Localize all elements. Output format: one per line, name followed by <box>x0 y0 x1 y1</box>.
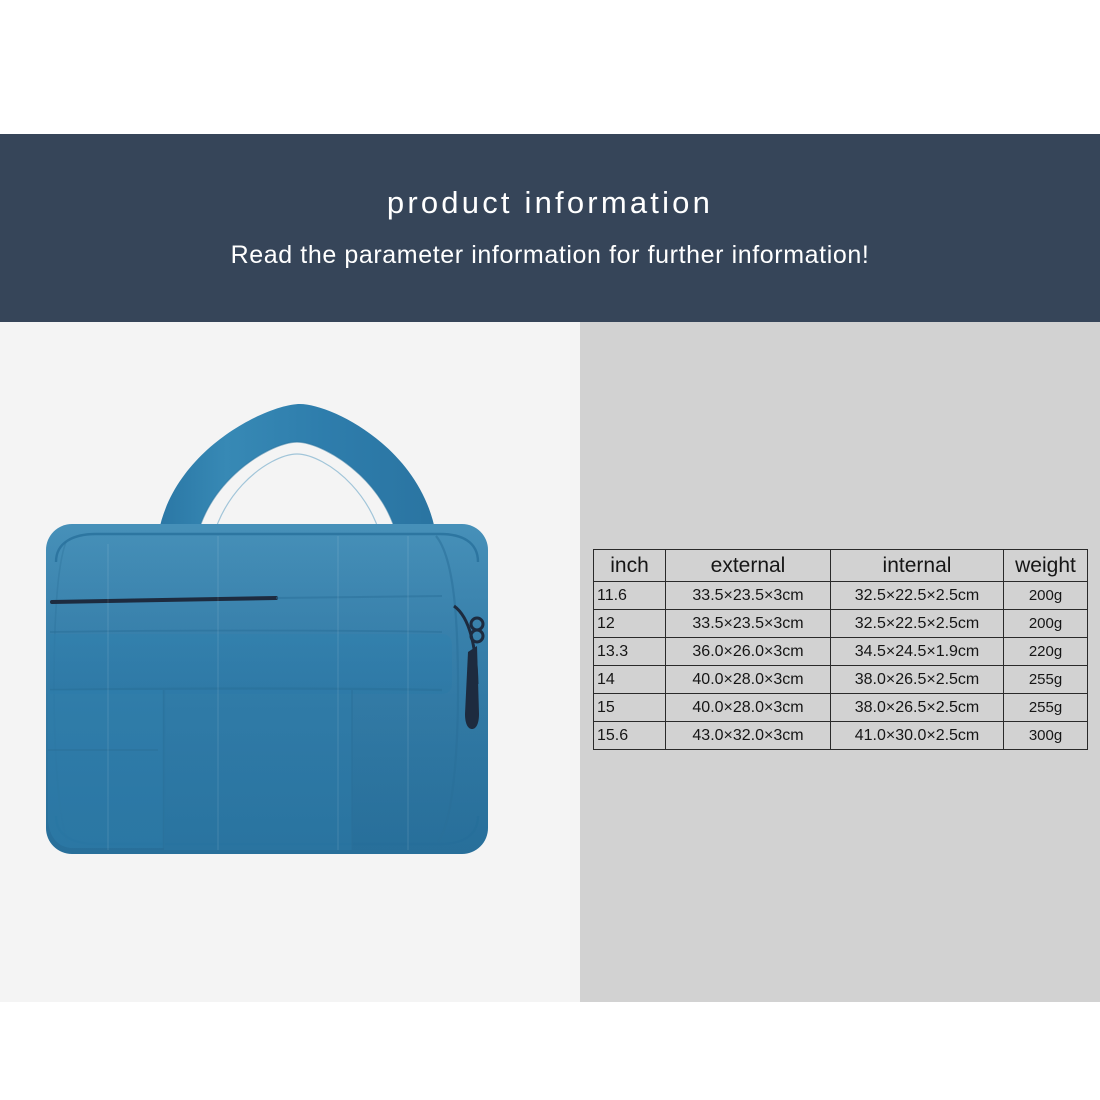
column-header-external: external <box>666 550 831 582</box>
table-row: 15 40.0×28.0×3cm 38.0×26.5×2.5cm 255g <box>594 694 1088 722</box>
cell-external: 43.0×32.0×3cm <box>666 722 831 750</box>
table-row: 15.6 43.0×32.0×3cm 41.0×30.0×2.5cm 300g <box>594 722 1088 750</box>
cell-external: 40.0×28.0×3cm <box>666 694 831 722</box>
product-image-panel <box>0 322 580 1002</box>
cell-internal: 32.5×22.5×2.5cm <box>831 582 1004 610</box>
table-row: 13.3 36.0×26.0×3cm 34.5×24.5×1.9cm 220g <box>594 638 1088 666</box>
table-body: 11.6 33.5×23.5×3cm 32.5×22.5×2.5cm 200g … <box>594 582 1088 750</box>
bag-front-pocket-icon <box>50 631 452 695</box>
cell-weight: 300g <box>1004 722 1088 750</box>
table-header-row: inch external internal weight <box>594 550 1088 582</box>
cell-inch: 15.6 <box>594 722 666 750</box>
page-subtitle: Read the parameter information for furth… <box>231 242 870 270</box>
banner: product information Read the parameter i… <box>0 134 1100 322</box>
table-row: 14 40.0×28.0×3cm 38.0×26.5×2.5cm 255g <box>594 666 1088 694</box>
cell-internal: 38.0×26.5×2.5cm <box>831 666 1004 694</box>
cell-inch: 13.3 <box>594 638 666 666</box>
cell-internal: 32.5×22.5×2.5cm <box>831 610 1004 638</box>
cell-weight: 220g <box>1004 638 1088 666</box>
table-header: inch external internal weight <box>594 550 1088 582</box>
cell-weight: 255g <box>1004 666 1088 694</box>
cell-weight: 200g <box>1004 610 1088 638</box>
cell-external: 40.0×28.0×3cm <box>666 666 831 694</box>
page-title: product information <box>387 186 713 220</box>
cell-internal: 34.5×24.5×1.9cm <box>831 638 1004 666</box>
table-row: 11.6 33.5×23.5×3cm 32.5×22.5×2.5cm 200g <box>594 582 1088 610</box>
cell-external: 36.0×26.0×3cm <box>666 638 831 666</box>
specification-table: inch external internal weight 11.6 33.5×… <box>593 549 1088 750</box>
laptop-bag-illustration <box>38 384 548 884</box>
cell-internal: 41.0×30.0×2.5cm <box>831 722 1004 750</box>
product-image <box>38 384 548 884</box>
cell-inch: 11.6 <box>594 582 666 610</box>
table-row: 12 33.5×23.5×3cm 32.5×22.5×2.5cm 200g <box>594 610 1088 638</box>
spec-table-container: inch external internal weight 11.6 33.5×… <box>593 549 1087 750</box>
product-information-page: product information Read the parameter i… <box>0 0 1100 1100</box>
cell-inch: 12 <box>594 610 666 638</box>
cell-external: 33.5×23.5×3cm <box>666 582 831 610</box>
column-header-inch: inch <box>594 550 666 582</box>
bag-side-pockets-icon <box>48 690 352 852</box>
cell-inch: 14 <box>594 666 666 694</box>
cell-inch: 15 <box>594 694 666 722</box>
content-area: inch external internal weight 11.6 33.5×… <box>0 322 1100 1002</box>
cell-weight: 255g <box>1004 694 1088 722</box>
cell-weight: 200g <box>1004 582 1088 610</box>
cell-internal: 38.0×26.5×2.5cm <box>831 694 1004 722</box>
cell-external: 33.5×23.5×3cm <box>666 610 831 638</box>
column-header-weight: weight <box>1004 550 1088 582</box>
column-header-internal: internal <box>831 550 1004 582</box>
spec-panel: inch external internal weight 11.6 33.5×… <box>580 322 1100 1002</box>
